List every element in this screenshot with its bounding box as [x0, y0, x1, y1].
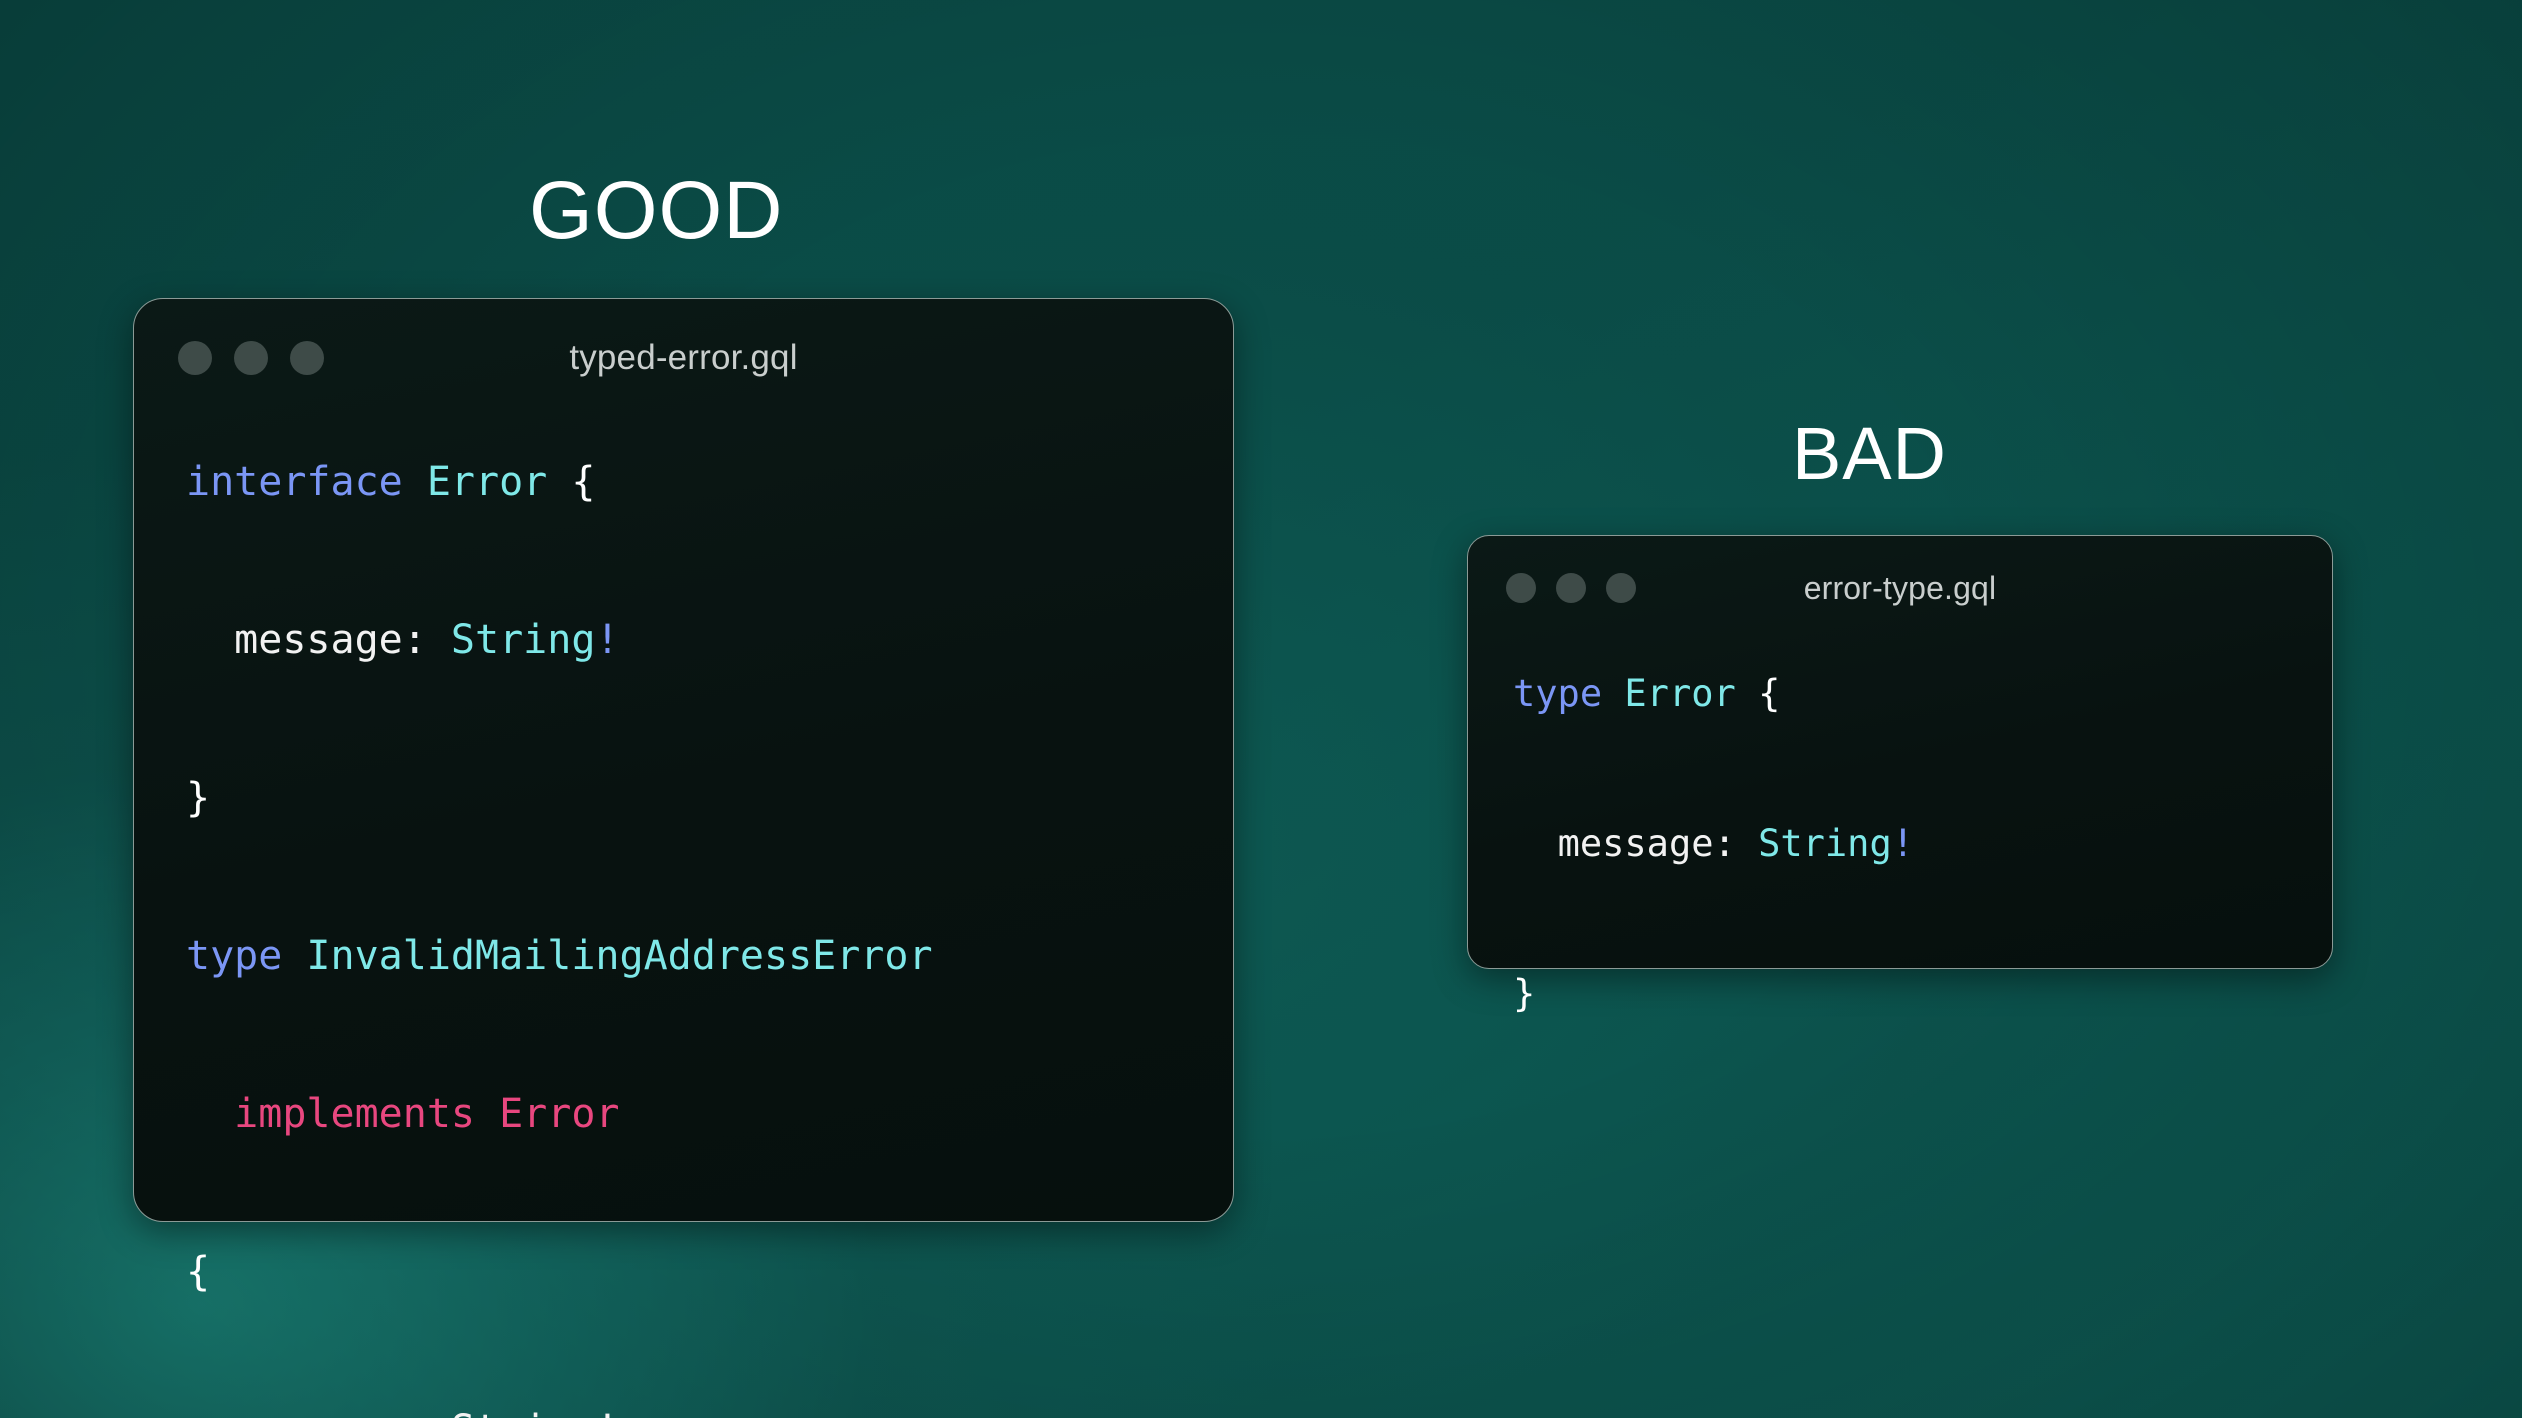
code-token-type: Error	[1624, 672, 1735, 715]
window-controls-bad	[1506, 573, 1636, 603]
maximize-dot-icon[interactable]	[1606, 573, 1636, 603]
close-dot-icon[interactable]	[178, 341, 212, 375]
code-token-keyword: interface	[186, 459, 403, 505]
code-token-type: InvalidMailingAddressError	[306, 933, 932, 979]
window-controls-good	[178, 341, 324, 375]
code-line: }	[1513, 956, 2332, 1031]
code-line: {	[186, 1233, 1233, 1312]
code-token-punct: }	[1513, 972, 1535, 1015]
code-token-plain: message	[234, 617, 403, 663]
code-token-keyword: !	[1892, 822, 1914, 865]
code-token-plain	[547, 459, 571, 505]
code-line: message: String!	[1513, 806, 2332, 881]
minimize-dot-icon[interactable]	[234, 341, 268, 375]
code-line: message: String!	[186, 1391, 1233, 1418]
minimize-dot-icon[interactable]	[1556, 573, 1586, 603]
code-window-good: typed-error.gql interface Error { messag…	[133, 298, 1234, 1222]
close-dot-icon[interactable]	[1506, 573, 1536, 603]
code-token-plain	[186, 617, 234, 663]
code-token-plain: :	[403, 1407, 451, 1418]
code-token-keyword: type	[186, 933, 282, 979]
code-token-plain	[1602, 672, 1624, 715]
code-token-type: String	[1758, 822, 1892, 865]
code-block-good: interface Error { message: String! } typ…	[134, 417, 1233, 1418]
comparison-stage: GOOD BAD typed-error.gql interface Error…	[0, 0, 2522, 1418]
code-token-plain	[186, 1407, 234, 1418]
code-token-punct: {	[571, 459, 595, 505]
code-token-impl: implements Error	[234, 1091, 619, 1137]
code-token-keyword: type	[1513, 672, 1602, 715]
code-token-punct: }	[186, 775, 210, 821]
code-token-keyword: !	[595, 617, 619, 663]
code-token-plain: :	[1714, 822, 1759, 865]
code-line: type Error {	[1513, 656, 2332, 731]
code-line: implements Error	[186, 1075, 1233, 1154]
titlebar-bad: error-type.gql	[1468, 536, 2332, 640]
maximize-dot-icon[interactable]	[290, 341, 324, 375]
titlebar-good: typed-error.gql	[134, 299, 1233, 417]
code-token-plain	[403, 459, 427, 505]
code-token-plain	[1736, 672, 1758, 715]
code-token-plain: :	[403, 617, 451, 663]
code-token-plain	[1513, 822, 1558, 865]
code-line: type InvalidMailingAddressError	[186, 917, 1233, 996]
code-token-plain	[282, 933, 306, 979]
code-token-plain: message	[1558, 822, 1714, 865]
code-block-bad: type Error { message: String! }	[1468, 640, 2332, 1031]
code-line: }	[186, 759, 1233, 838]
code-token-type: String	[451, 617, 596, 663]
code-token-plain: String!	[451, 1407, 620, 1418]
code-token-field: message	[234, 1407, 403, 1418]
code-line: interface Error {	[186, 443, 1233, 522]
section-label-bad: BAD	[1792, 417, 1947, 491]
code-token-type: Error	[427, 459, 547, 505]
code-window-bad: error-type.gql type Error { message: Str…	[1467, 535, 2333, 969]
code-token-punct: {	[1758, 672, 1780, 715]
code-token-punct: {	[186, 1249, 210, 1295]
code-line: message: String!	[186, 601, 1233, 680]
section-label-good: GOOD	[529, 170, 784, 252]
code-token-plain	[186, 1091, 234, 1137]
